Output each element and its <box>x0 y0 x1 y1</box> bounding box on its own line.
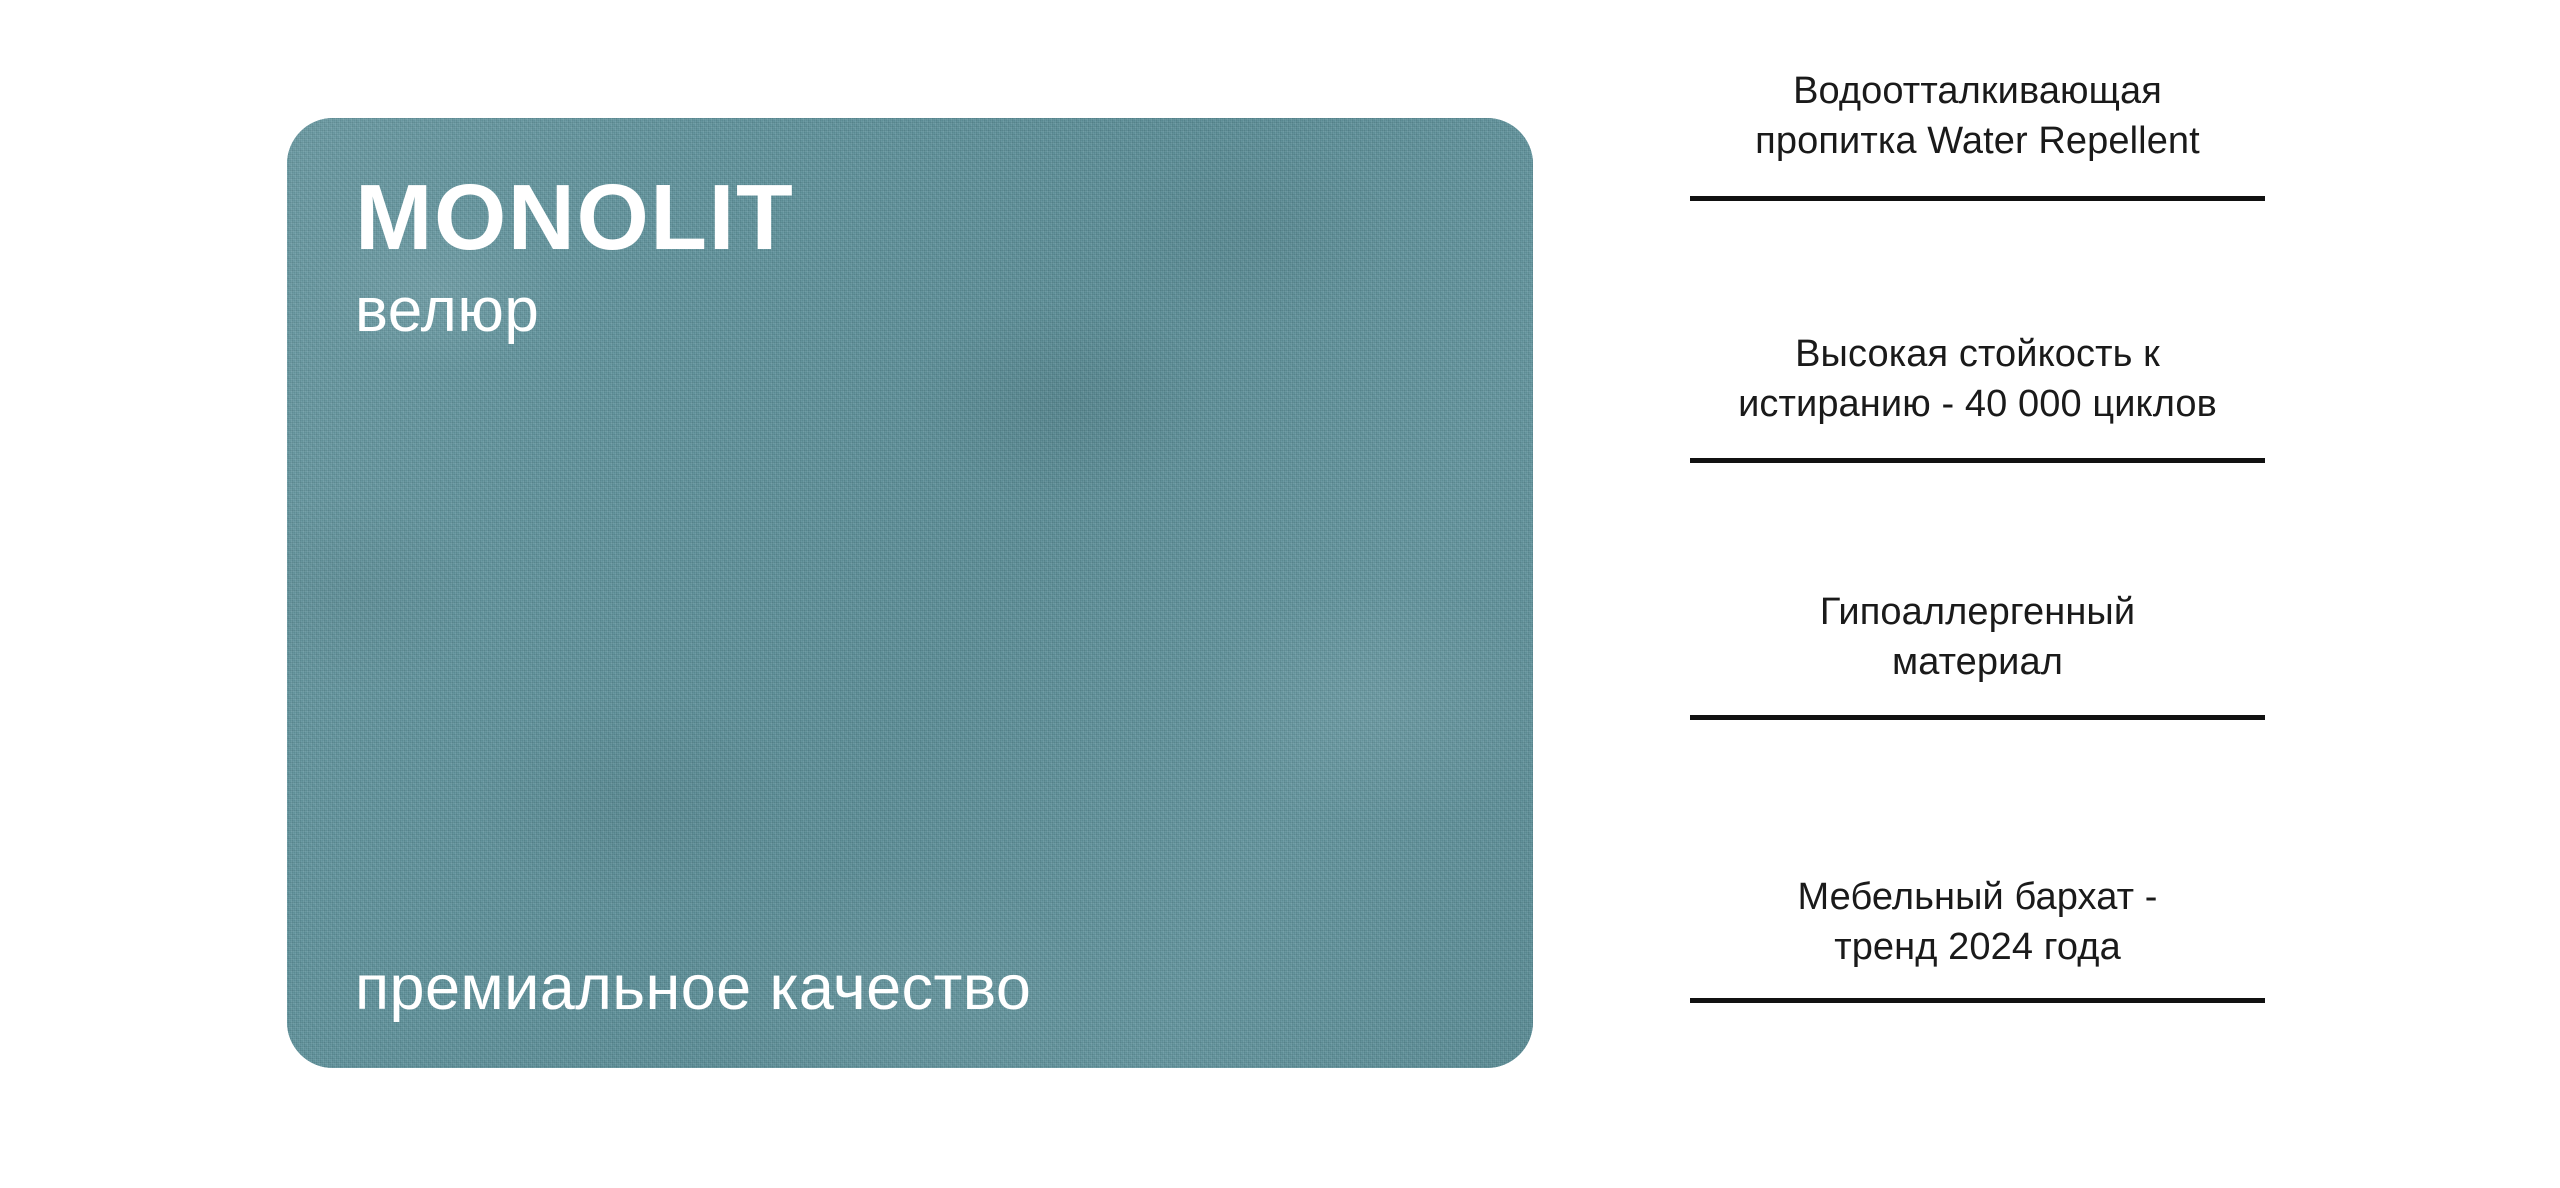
promo-page: MONOLIT велюр премиальное качество Водоо… <box>0 0 2560 1188</box>
feature-item-abrasion-resistance: Высокая стойкость к истиранию - 40 000 ц… <box>1690 329 2265 462</box>
feature-divider <box>1690 196 2265 201</box>
swatch-heading-group: MONOLIT велюр <box>355 171 794 347</box>
feature-divider <box>1690 998 2265 1003</box>
feature-item-water-repellent: Водоотталкивающая пропитка Water Repelle… <box>1690 66 2265 201</box>
fabric-type-subtitle: велюр <box>355 274 794 347</box>
feature-divider <box>1690 458 2265 463</box>
swatch-tagline: премиальное качество <box>355 952 1031 1024</box>
fabric-name-title: MONOLIT <box>355 171 794 264</box>
feature-list: Водоотталкивающая пропитка Water Repelle… <box>1690 66 2265 1003</box>
fabric-swatch-card: MONOLIT велюр премиальное качество <box>287 118 1533 1068</box>
feature-text: Водоотталкивающая пропитка Water Repelle… <box>1690 66 2265 166</box>
feature-text: Мебельный бархат - тренд 2024 года <box>1690 872 2265 972</box>
feature-divider <box>1690 715 2265 720</box>
feature-item-hypoallergenic: Гипоаллергенный материал <box>1690 587 2265 720</box>
feature-text: Высокая стойкость к истиранию - 40 000 ц… <box>1690 329 2265 429</box>
feature-text: Гипоаллергенный материал <box>1690 587 2265 687</box>
feature-item-trend-2024: Мебельный бархат - тренд 2024 года <box>1690 872 2265 1003</box>
